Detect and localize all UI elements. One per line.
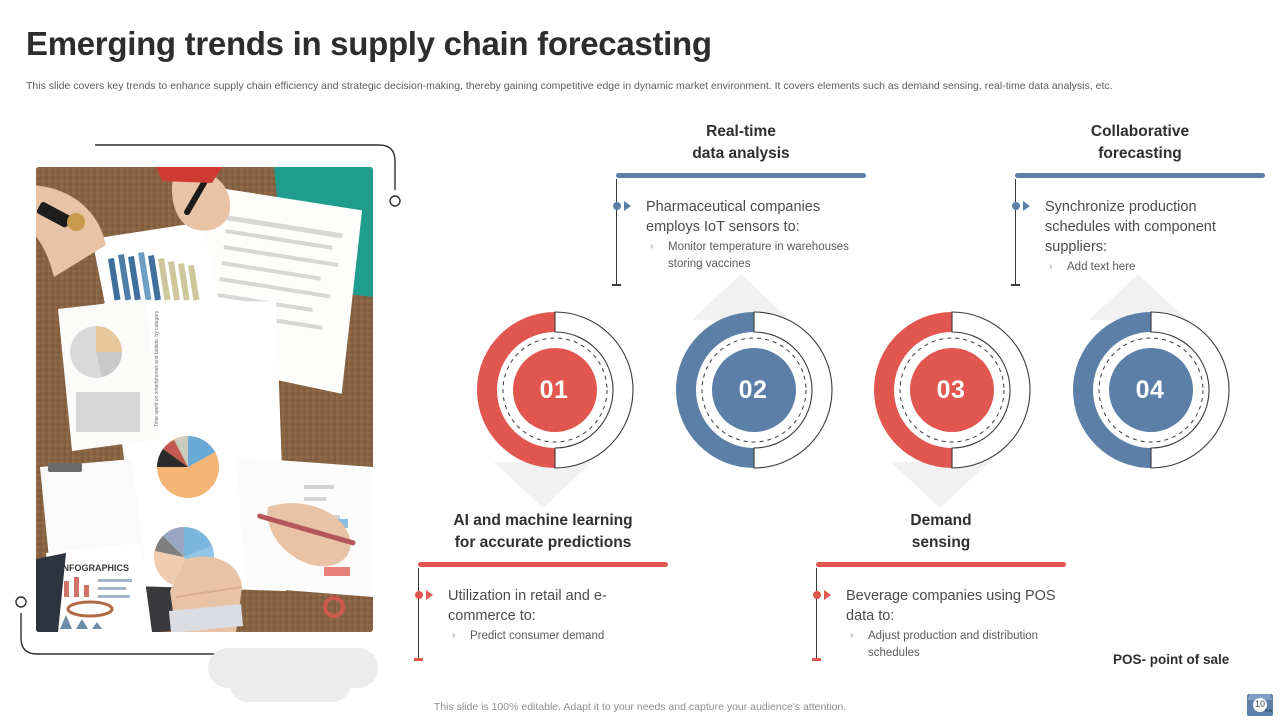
- block-ai-connector-line: [418, 568, 419, 660]
- bullet-dot-icon: [613, 202, 621, 210]
- block-realtime-connector-line: [616, 179, 617, 285]
- block-demand-connector-cap: [812, 658, 821, 661]
- block-demand-connector-line: [816, 568, 817, 660]
- block-demand-rule: [816, 562, 1066, 567]
- block-ai-body: Utilization in retail and e-commerce to:…: [418, 586, 668, 645]
- block-realtime-connector-cap: [612, 284, 621, 286]
- block-ai-rule: [418, 562, 668, 567]
- block-realtime-subpoint-0-text: Monitor temperature in warehouses storin…: [668, 241, 849, 270]
- block-realtime-heading-line2: data analysis: [616, 143, 866, 165]
- block-collaborative-heading: Collaborative forecasting: [1015, 121, 1265, 166]
- block-collaborative: Collaborative forecasting Synchronize pr…: [1015, 121, 1265, 276]
- block-realtime-subpoint-0: › Monitor temperature in warehouses stor…: [646, 239, 866, 272]
- slide-footer-note: This slide is 100% editable. Adapt it to…: [0, 701, 1280, 713]
- block-ai: AI and machine learning for accurate pre…: [418, 510, 668, 645]
- chevron-right-icon: ›: [452, 629, 455, 644]
- bullet-triangle-icon: [1023, 201, 1030, 211]
- block-ai-heading-line1: AI and machine learning: [418, 510, 668, 532]
- bullet-dot-icon: [813, 591, 821, 599]
- bullet-triangle-icon: [824, 590, 831, 600]
- decorative-blob-2: [230, 668, 350, 702]
- block-collaborative-point: Synchronize production schedules with co…: [1045, 197, 1265, 257]
- block-ai-subpoint-0-text: Predict consumer demand: [470, 630, 604, 642]
- chevron-right-icon: ›: [1049, 260, 1052, 275]
- block-demand-heading-line1: Demand: [816, 510, 1066, 532]
- number-circle-02-label: 02: [661, 300, 847, 480]
- page-number-label: 10: [1247, 692, 1273, 716]
- block-ai-point: Utilization in retail and e-commerce to:: [448, 586, 668, 626]
- block-demand-heading-line2: sensing: [816, 532, 1066, 554]
- block-ai-subpoint-0: › Predict consumer demand: [448, 628, 668, 645]
- block-realtime-heading: Real-time data analysis: [616, 121, 866, 166]
- block-realtime-heading-line1: Real-time: [616, 121, 866, 143]
- bullet-dot-icon: [415, 591, 423, 599]
- block-demand-subpoint-0-text: Adjust production and distribution sched…: [868, 630, 1038, 659]
- number-circle-01[interactable]: 01: [462, 300, 648, 480]
- block-collaborative-body: Synchronize production schedules with co…: [1015, 197, 1265, 276]
- block-collaborative-connector-line: [1015, 179, 1016, 285]
- number-circle-03-label: 03: [859, 300, 1045, 480]
- bullet-triangle-icon: [624, 201, 631, 211]
- bullet-triangle-icon: [426, 590, 433, 600]
- page-subtitle: This slide covers key trends to enhance …: [26, 79, 1206, 94]
- block-ai-connector-cap: [414, 658, 423, 661]
- number-circle-03[interactable]: 03: [859, 300, 1045, 480]
- desk-photo: Time spent on smartphones and tablets, b…: [36, 167, 373, 632]
- block-realtime-point: Pharmaceutical companies employs IoT sen…: [646, 197, 866, 237]
- block-demand-body: Beverage companies using POS data to: › …: [816, 586, 1066, 661]
- number-circle-02[interactable]: 02: [661, 300, 847, 480]
- block-realtime-body: Pharmaceutical companies employs IoT sen…: [616, 197, 866, 272]
- number-circle-01-label: 01: [462, 300, 648, 480]
- block-demand-heading: Demand sensing: [816, 510, 1066, 555]
- slide-root: Emerging trends in supply chain forecast…: [0, 0, 1280, 720]
- bullet-dot-icon: [1012, 202, 1020, 210]
- page-number-badge: 10: [1247, 692, 1273, 716]
- number-circle-04-label: 04: [1058, 300, 1244, 480]
- block-collaborative-rule: [1015, 173, 1265, 178]
- number-circle-04[interactable]: 04: [1058, 300, 1244, 480]
- block-realtime-rule: [616, 173, 866, 178]
- block-collaborative-heading-line2: forecasting: [1015, 143, 1265, 165]
- block-collaborative-subpoint-0-text: Add text here: [1067, 261, 1135, 273]
- chevron-right-icon: ›: [850, 629, 853, 644]
- desk-photo-illustration: Time spent on smartphones and tablets, b…: [36, 167, 373, 632]
- block-collaborative-heading-line1: Collaborative: [1015, 121, 1265, 143]
- chevron-right-icon: ›: [650, 240, 653, 255]
- block-ai-heading-line2: for accurate predictions: [418, 532, 668, 554]
- block-ai-heading: AI and machine learning for accurate pre…: [418, 510, 668, 555]
- block-demand-point: Beverage companies using POS data to:: [846, 586, 1066, 626]
- svg-text:Time spent on smartphones and: Time spent on smartphones and tablets, b…: [154, 310, 160, 427]
- block-realtime: Real-time data analysis Pharmaceutical c…: [616, 121, 866, 272]
- page-title: Emerging trends in supply chain forecast…: [26, 25, 712, 63]
- block-collaborative-subpoint-0: › Add text here: [1045, 259, 1265, 276]
- block-demand-subpoint-0: › Adjust production and distribution sch…: [846, 628, 1066, 661]
- svg-text:INFOGRAPHICS: INFOGRAPHICS: [60, 563, 129, 573]
- block-demand: Demand sensing Beverage companies using …: [816, 510, 1066, 661]
- pos-abbreviation-note: POS- point of sale: [1113, 652, 1229, 667]
- block-collaborative-connector-cap: [1011, 284, 1020, 286]
